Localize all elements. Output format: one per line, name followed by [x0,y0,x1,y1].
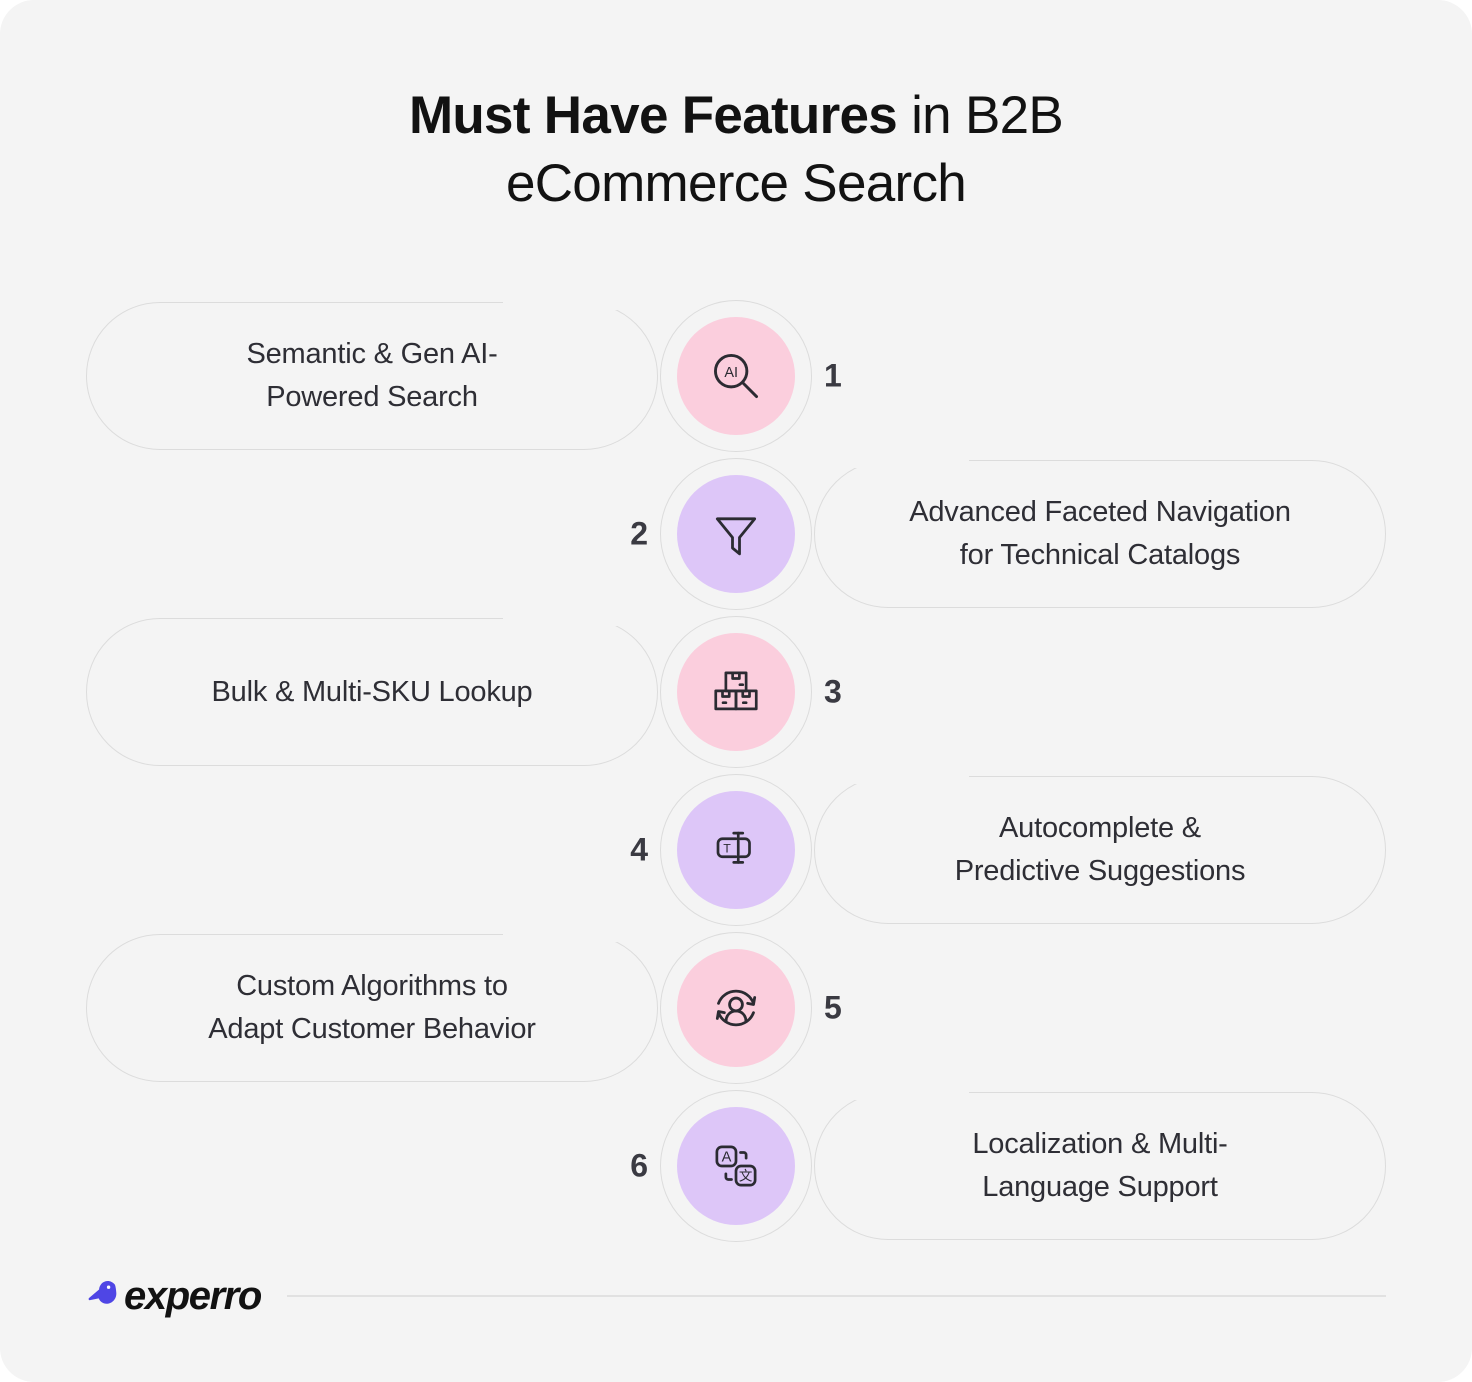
svg-text:文: 文 [739,1169,753,1184]
step-label-line-1: Autocomplete & [999,812,1201,844]
infographic-page: Must Have Features in B2B eCommerce Sear… [0,0,1472,1382]
step-icon-node-6[interactable]: A 文 [660,1090,812,1242]
step-icon-disc-3 [677,633,795,751]
user-behavior-refresh-icon [708,980,764,1036]
step-icon-disc-1: AI [677,317,795,435]
pill-mask [503,612,633,626]
step-number-6: 6 [630,1148,648,1185]
step-label-3: Bulk & Multi-SKU Lookup [212,671,533,714]
step-number-3: 3 [824,674,842,711]
step-label-line-1: Localization & Multi- [972,1128,1227,1160]
pill-mask [503,296,633,310]
step-number-1: 1 [824,358,842,395]
step-label-line-2: Predictive Suggestions [955,855,1246,887]
page-title: Must Have Features in B2B eCommerce Sear… [0,82,1472,218]
step-label-4: Autocomplete & Predictive Suggestions [955,807,1246,892]
svg-text:T: T [723,841,731,855]
title-line-2: eCommerce Search [0,150,1472,218]
step-label-line-1: Custom Algorithms to [236,970,508,1002]
svg-text:A: A [722,1150,732,1166]
step-icon-disc-4: T [677,791,795,909]
bird-icon [86,1279,120,1314]
brand-logo[interactable]: experro [86,1274,261,1319]
step-row-6: Localization & Multi- Language Support A… [0,1086,1472,1246]
step-number-2: 2 [630,516,648,553]
pill-mask [503,928,633,942]
step-label-pill-2[interactable]: Advanced Faceted Navigation for Technica… [814,460,1386,608]
step-label-pill-4[interactable]: Autocomplete & Predictive Suggestions [814,776,1386,924]
step-icon-disc-6: A 文 [677,1107,795,1225]
text-input-cursor-icon: T [709,823,763,877]
step-number-4: 4 [630,832,648,869]
step-label-line-2: for Technical Catalogs [960,539,1240,571]
steps-chain: Semantic & Gen AI- Powered Search AI 1 [0,296,1472,1256]
step-label-pill-6[interactable]: Localization & Multi- Language Support [814,1092,1386,1240]
footer-divider [287,1295,1386,1297]
step-number-5: 5 [824,990,842,1027]
step-label-line-2: Language Support [982,1171,1217,1203]
step-icon-node-4[interactable]: T [660,774,812,926]
step-icon-disc-5 [677,949,795,1067]
step-label-pill-1[interactable]: Semantic & Gen AI- Powered Search [86,302,658,450]
ai-search-icon: AI [707,347,765,405]
step-label-line-1: Advanced Faceted Navigation [909,496,1291,528]
step-row-5: Custom Algorithms to Adapt Customer Beha… [0,928,1472,1088]
step-label-2: Advanced Faceted Navigation for Technica… [909,491,1291,576]
title-line-1: Must Have Features in B2B [0,82,1472,150]
step-icon-node-5[interactable] [660,932,812,1084]
step-label-line-2: Powered Search [266,381,478,413]
step-row-1: Semantic & Gen AI- Powered Search AI 1 [0,296,1472,456]
step-icon-node-1[interactable]: AI [660,300,812,452]
step-label-line-2: Adapt Customer Behavior [208,1013,535,1045]
pill-mask [839,454,969,468]
step-label-pill-3[interactable]: Bulk & Multi-SKU Lookup [86,618,658,766]
step-label-5: Custom Algorithms to Adapt Customer Beha… [208,965,535,1050]
title-bold-part: Must Have Features [409,86,897,145]
step-icon-disc-2 [677,475,795,593]
step-row-4: Autocomplete & Predictive Suggestions T [0,770,1472,930]
step-label-1: Semantic & Gen AI- Powered Search [246,333,497,418]
step-icon-node-3[interactable] [660,616,812,768]
step-icon-node-2[interactable] [660,458,812,610]
step-label-line-1: Semantic & Gen AI- [246,338,497,370]
pill-mask [839,1086,969,1100]
filter-funnel-icon [708,506,764,562]
title-rest-part: in B2B [897,86,1063,145]
step-row-3: Bulk & Multi-SKU Lookup [0,612,1472,772]
step-row-2: Advanced Faceted Navigation for Technica… [0,454,1472,614]
pill-mask [839,770,969,784]
stacked-boxes-icon [709,665,763,719]
svg-text:AI: AI [724,365,738,381]
step-label-6: Localization & Multi- Language Support [972,1123,1227,1208]
step-label-pill-5[interactable]: Custom Algorithms to Adapt Customer Beha… [86,934,658,1082]
brand-name: experro [124,1274,261,1319]
footer: experro [86,1272,1386,1320]
translate-icon: A 文 [709,1139,763,1193]
